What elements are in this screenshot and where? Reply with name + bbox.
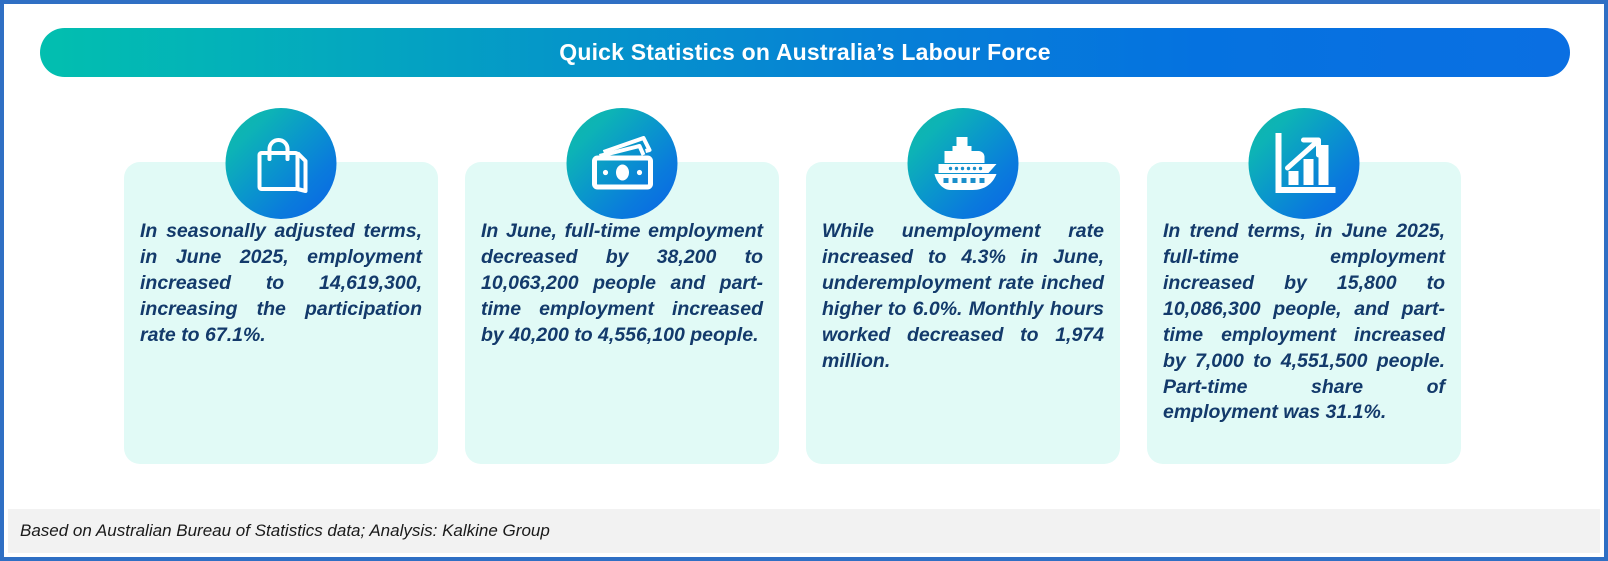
stat-card-employment: In seasonally adjusted terms, in June 20… bbox=[124, 162, 438, 464]
stat-card-text: In seasonally adjusted terms, in June 20… bbox=[140, 219, 422, 349]
infographic-frame: Quick Statistics on Australia’s Labour F… bbox=[0, 0, 1608, 561]
page-title: Quick Statistics on Australia’s Labour F… bbox=[559, 39, 1051, 66]
header-banner: Quick Statistics on Australia’s Labour F… bbox=[40, 28, 1570, 77]
stat-card-text: In trend terms, in June 2025, full-time … bbox=[1163, 219, 1445, 426]
cruise-ship-icon bbox=[908, 108, 1019, 219]
source-note: Based on Australian Bureau of Statistics… bbox=[8, 521, 550, 541]
footer-bar: Based on Australian Bureau of Statistics… bbox=[8, 509, 1600, 553]
bar-chart-growth-icon bbox=[1249, 108, 1360, 219]
shopping-bag-icon bbox=[226, 108, 337, 219]
stat-card-fulltime-parttime-seasonal: In June, full-time employment decreased … bbox=[465, 162, 779, 464]
stat-card-trend-terms: In trend terms, in June 2025, full-time … bbox=[1147, 162, 1461, 464]
stat-card-unemployment: While unemployment rate increased to 4.3… bbox=[806, 162, 1120, 464]
stat-card-text: While unemployment rate increased to 4.3… bbox=[822, 219, 1104, 375]
statistics-card-row: In seasonally adjusted terms, in June 20… bbox=[124, 162, 1476, 464]
stat-card-text: In June, full-time employment decreased … bbox=[481, 219, 763, 349]
banknotes-icon bbox=[567, 108, 678, 219]
